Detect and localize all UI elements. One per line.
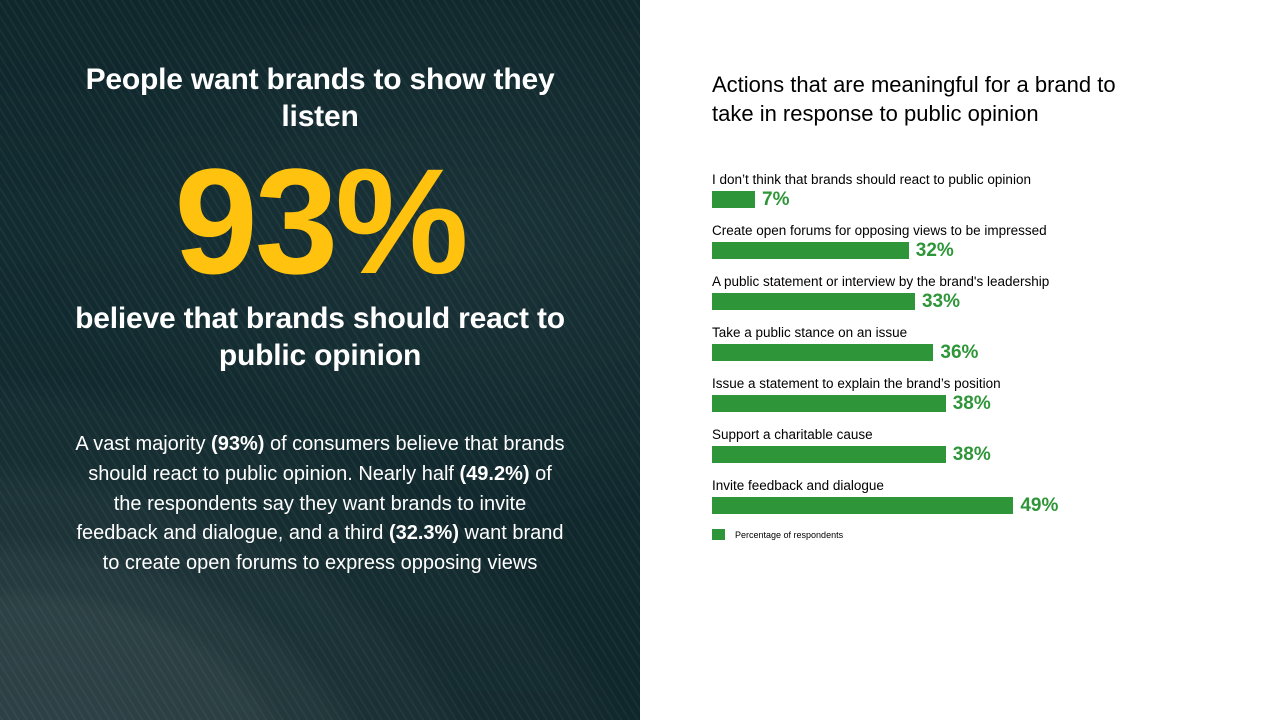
bar-fill[interactable] xyxy=(712,293,915,310)
bar-category-label: Take a public stance on an issue xyxy=(712,325,1220,340)
bar-row: 38% xyxy=(712,446,1220,463)
bar-category-label: Support a charitable cause xyxy=(712,427,1220,442)
bar-category-label: I don’t think that brands should react t… xyxy=(712,172,1220,187)
infographic-slide: People want brands to show they listen 9… xyxy=(0,0,1280,720)
bar-value-label: 32% xyxy=(916,241,954,260)
body-paragraph: A vast majority (93%) of consumers belie… xyxy=(72,430,568,578)
right-chart-panel: Actions that are meaningful for a brand … xyxy=(640,0,1280,720)
left-panel-content: People want brands to show they listen 9… xyxy=(0,0,640,578)
chart-title: Actions that are meaningful for a brand … xyxy=(712,70,1142,128)
bar-row: 36% xyxy=(712,344,1220,361)
bar-category-label: Issue a statement to explain the brand’s… xyxy=(712,376,1220,391)
bar-group: Support a charitable cause38% xyxy=(712,427,1220,463)
bar-fill[interactable] xyxy=(712,242,909,259)
bar-value-label: 7% xyxy=(762,190,789,209)
bar-group: Invite feedback and dialogue49% xyxy=(712,478,1220,514)
bar-fill[interactable] xyxy=(712,344,933,361)
bar-value-label: 33% xyxy=(922,292,960,311)
bar-group: Issue a statement to explain the brand’s… xyxy=(712,376,1220,412)
bar-value-label: 38% xyxy=(953,394,991,413)
headline: People want brands to show they listen xyxy=(72,62,568,135)
bar-category-label: Invite feedback and dialogue xyxy=(712,478,1220,493)
body-stat-32: (32.3%) xyxy=(389,522,459,544)
bar-fill[interactable] xyxy=(712,395,946,412)
chart-legend: Percentage of respondents xyxy=(712,529,1220,540)
subheadline: believe that brands should react to publ… xyxy=(72,301,568,374)
big-statistic: 93% xyxy=(72,143,568,299)
bar-value-label: 49% xyxy=(1020,496,1058,515)
legend-label: Percentage of respondents xyxy=(735,530,843,540)
bar-category-label: A public statement or interview by the b… xyxy=(712,274,1220,289)
left-statement-panel: People want brands to show they listen 9… xyxy=(0,0,640,720)
bar-group: A public statement or interview by the b… xyxy=(712,274,1220,310)
body-stat-93: (93%) xyxy=(211,433,264,455)
bar-group: Take a public stance on an issue36% xyxy=(712,325,1220,361)
bar-value-label: 36% xyxy=(940,343,978,362)
bar-row: 7% xyxy=(712,191,1220,208)
bar-chart: I don’t think that brands should react t… xyxy=(712,172,1220,514)
bar-category-label: Create open forums for opposing views to… xyxy=(712,223,1220,238)
bar-group: I don’t think that brands should react t… xyxy=(712,172,1220,208)
body-text-part-1: A vast majority xyxy=(75,433,211,455)
bar-row: 33% xyxy=(712,293,1220,310)
body-stat-49: (49.2%) xyxy=(460,463,530,485)
bar-value-label: 38% xyxy=(953,445,991,464)
bar-group: Create open forums for opposing views to… xyxy=(712,223,1220,259)
bar-fill[interactable] xyxy=(712,497,1013,514)
legend-swatch-icon xyxy=(712,529,725,540)
bar-row: 32% xyxy=(712,242,1220,259)
bar-row: 49% xyxy=(712,497,1220,514)
bar-fill[interactable] xyxy=(712,191,755,208)
bar-row: 38% xyxy=(712,395,1220,412)
bar-fill[interactable] xyxy=(712,446,946,463)
